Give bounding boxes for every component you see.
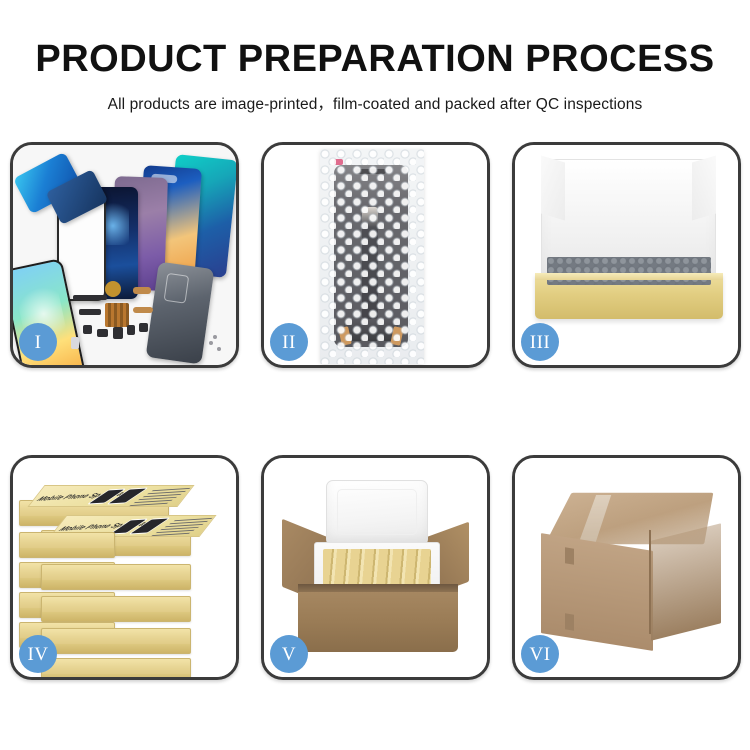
retail-box-layer-5 [41, 564, 191, 590]
steps-row-1: I I [10, 142, 740, 368]
retail-box-layer-10 [41, 658, 191, 677]
part-screw-1 [209, 341, 213, 345]
part-chip-c [113, 327, 123, 339]
bubble-texture [320, 149, 424, 364]
step-panel-2: II [261, 142, 490, 368]
step-badge-2: II [270, 323, 308, 361]
carton-front-face [541, 533, 653, 651]
part-chip-a [83, 325, 92, 334]
part-speaker-gold [105, 281, 121, 297]
step-panel-6: VI [512, 455, 741, 680]
step-badge-3: III [521, 323, 559, 361]
page-subtitle: All products are image-printed，film-coat… [0, 92, 750, 114]
bubble-wrap-padding [547, 257, 711, 285]
part-strip [73, 295, 107, 300]
part-grid-module [105, 303, 129, 327]
step-panel-3: III [512, 142, 741, 368]
step-badge-5: V [270, 635, 308, 673]
step-badge-6: VI [521, 635, 559, 673]
packed-retail-boxes [323, 549, 431, 589]
shipping-carton [537, 486, 723, 646]
lid-flap-left [541, 156, 565, 221]
retail-box-layer-9 [41, 628, 191, 654]
page-title: PRODUCT PREPARATION PROCESS [0, 40, 750, 78]
step-panel-1: I [10, 142, 239, 368]
part-flex-cable [133, 287, 151, 294]
lid-flap-right [692, 156, 716, 221]
step-badge-4: IV [19, 635, 57, 673]
retail-box-layer-3 [19, 532, 115, 558]
header: PRODUCT PREPARATION PROCESS All products… [0, 0, 750, 114]
carton-seam-bottom [565, 613, 574, 630]
part-chip-e [139, 323, 148, 332]
kraft-box-tray [535, 273, 723, 319]
step-badge-1: I [19, 323, 57, 361]
part-chip-d [127, 325, 135, 335]
phone-back-cover [146, 262, 215, 365]
steps-grid: I I [10, 142, 740, 680]
step-panel-5: V [261, 455, 490, 680]
tray-lip [535, 273, 723, 280]
part-chip-b [97, 329, 108, 337]
part-sim-tray [71, 337, 79, 349]
carton-seam-top [565, 547, 574, 564]
carton-corner-edge [649, 530, 651, 634]
bubble-wrap-bag [320, 149, 424, 364]
steps-row-2: Mobile Phone Spare Parts [10, 455, 740, 680]
retail-box-layer-7 [41, 596, 191, 622]
part-screw-3 [213, 335, 217, 339]
foam-box-lid [326, 480, 428, 546]
part-screw-2 [217, 347, 221, 351]
box-top-face: Mobile Phone Spare Parts [27, 485, 194, 507]
carton-right-face [651, 523, 721, 640]
carton-body [298, 584, 458, 652]
part-flex-cable-2 [133, 307, 153, 313]
product-preparation-infographic: PRODUCT PREPARATION PROCESS All products… [0, 0, 750, 750]
part-connector [79, 309, 101, 315]
step-panel-4: Mobile Phone Spare Parts [10, 455, 239, 680]
